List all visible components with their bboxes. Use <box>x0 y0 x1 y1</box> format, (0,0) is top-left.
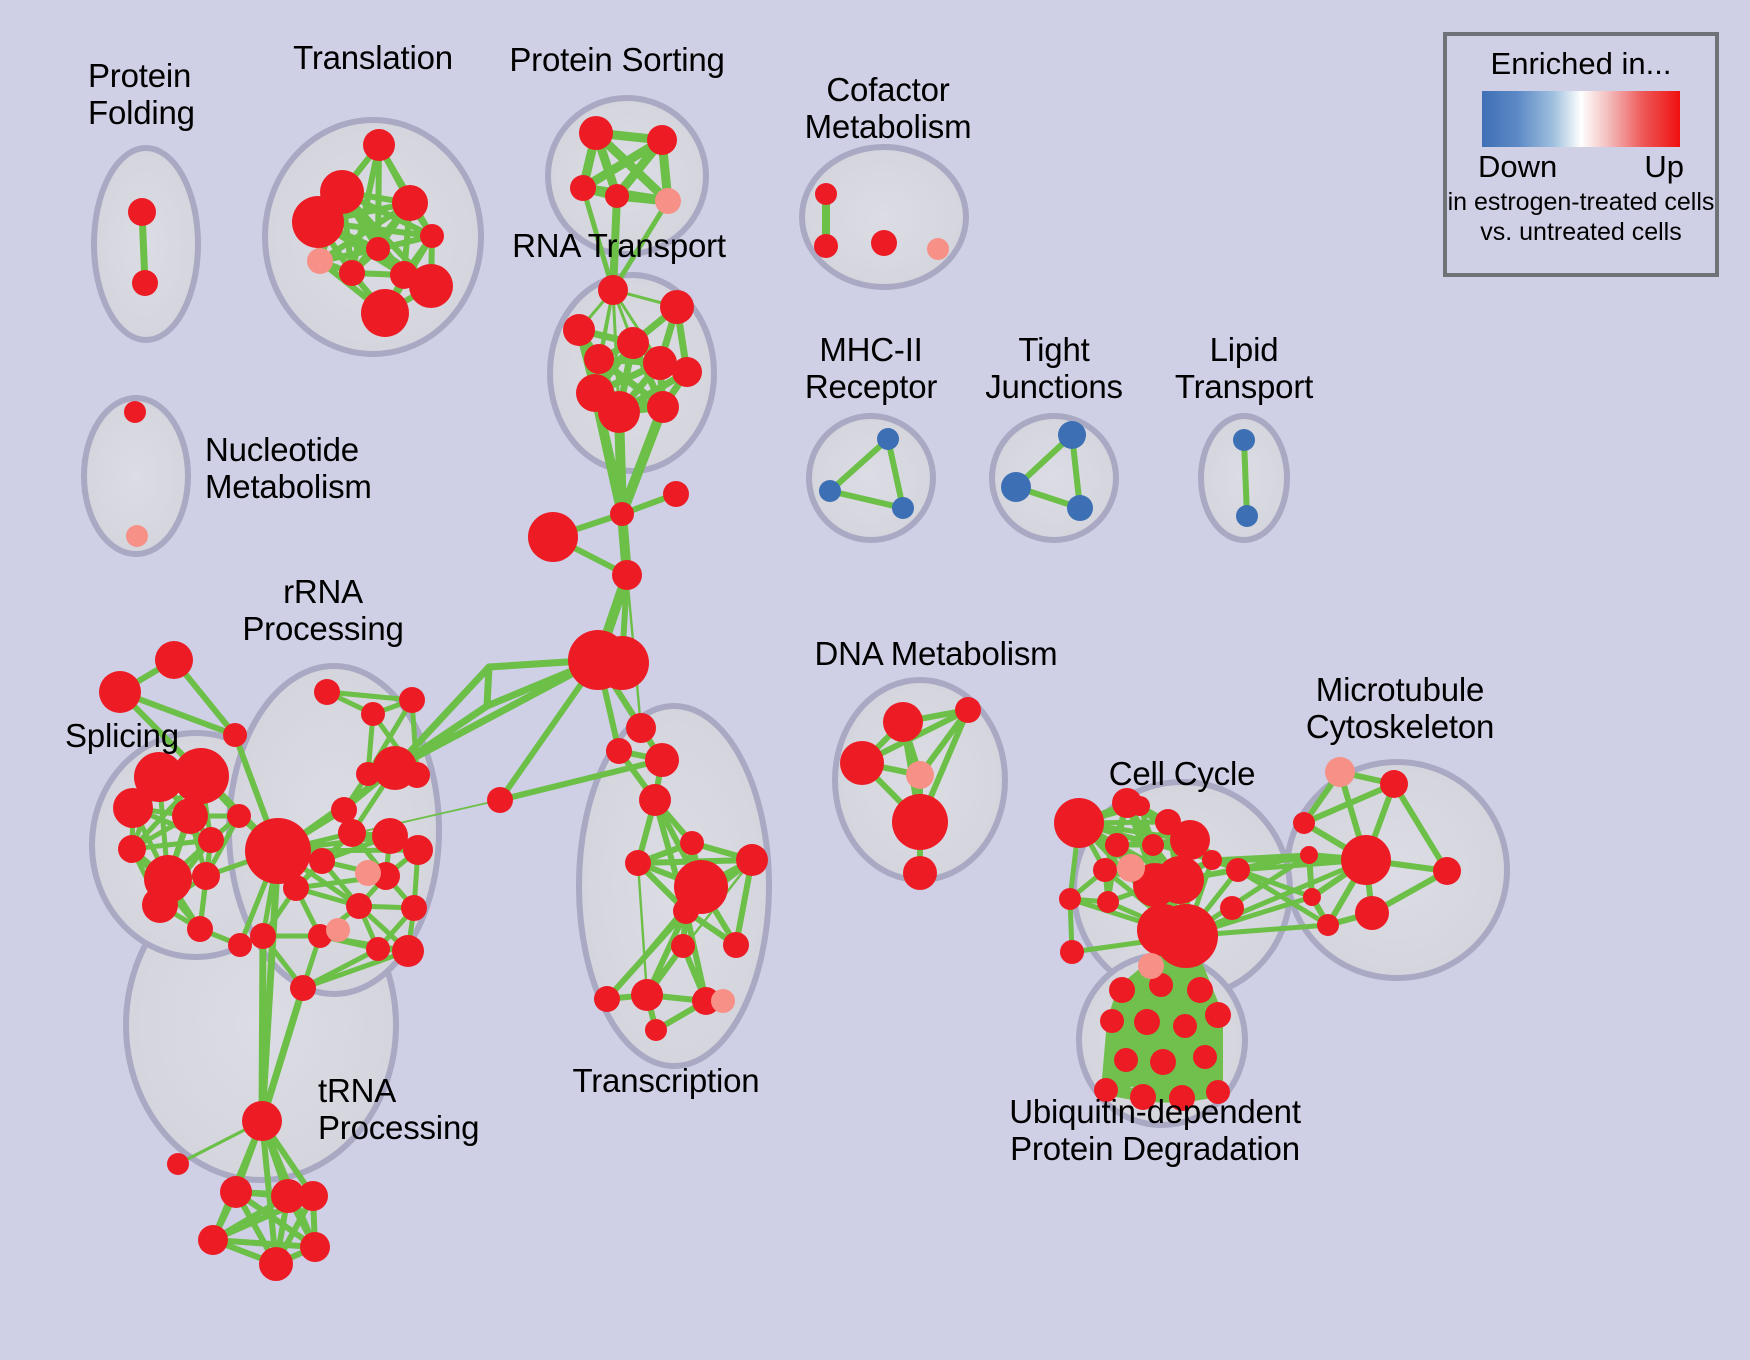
node <box>1300 846 1318 864</box>
node <box>187 916 213 942</box>
node <box>487 787 513 813</box>
node <box>672 357 702 387</box>
cluster-label-microtubule-cytoskeleton: Microtubule Cytoskeleton <box>1306 672 1494 746</box>
node <box>671 934 695 958</box>
node <box>645 743 679 777</box>
node <box>409 264 453 308</box>
enrichment-map-figure: Protein Folding Translation Protein Sort… <box>0 0 1750 1360</box>
node <box>167 1153 189 1175</box>
node <box>643 346 677 380</box>
node <box>639 784 671 816</box>
node <box>1117 854 1145 882</box>
node <box>403 835 433 865</box>
node <box>647 391 679 423</box>
legend-endpoints: Down Up <box>1482 149 1680 185</box>
node <box>142 887 178 923</box>
node <box>420 224 444 248</box>
node <box>245 818 311 884</box>
node <box>815 183 837 205</box>
node <box>307 248 333 274</box>
node <box>124 401 146 423</box>
node <box>927 238 949 260</box>
node <box>173 748 229 804</box>
node <box>631 979 663 1011</box>
node <box>612 560 642 590</box>
node <box>1054 798 1104 848</box>
node <box>355 860 381 886</box>
node <box>1150 1049 1176 1075</box>
node <box>1355 896 1389 930</box>
node <box>892 497 914 519</box>
node <box>259 1247 293 1281</box>
node <box>250 923 276 949</box>
node <box>1059 888 1081 910</box>
node <box>361 289 409 337</box>
cluster-label-rna-transport: RNA Transport <box>512 228 726 265</box>
cluster-label-ubiquitin-protein-degradation: Ubiquitin-dependent Protein Degradation <box>1009 1094 1301 1168</box>
node <box>595 636 649 690</box>
node <box>338 819 366 847</box>
node <box>606 738 632 764</box>
node <box>1138 953 1164 979</box>
legend-subtitle-line2: vs. untreated cells <box>1447 217 1715 247</box>
node <box>594 986 620 1012</box>
cluster-label-tight-junctions: Tight Junctions <box>985 332 1123 406</box>
node <box>840 741 884 785</box>
node <box>339 260 365 286</box>
node <box>1293 812 1315 834</box>
node <box>373 746 417 790</box>
node <box>598 391 640 433</box>
node <box>955 697 981 723</box>
node <box>906 761 934 789</box>
legend-up-label: Up <box>1644 149 1684 185</box>
node <box>242 1101 282 1141</box>
node <box>1060 940 1084 964</box>
node <box>680 831 704 855</box>
node <box>198 827 224 853</box>
node <box>647 125 677 155</box>
legend-down-label: Down <box>1478 149 1557 185</box>
node <box>155 641 193 679</box>
node <box>1134 1009 1160 1035</box>
node <box>1202 850 1222 870</box>
node <box>292 196 344 248</box>
node <box>819 480 841 502</box>
cluster-label-protein-folding: Protein Folding <box>88 58 195 132</box>
node <box>1205 1002 1231 1028</box>
node <box>309 848 335 874</box>
node <box>1105 833 1129 857</box>
node <box>220 1176 252 1208</box>
cluster-label-cell-cycle: Cell Cycle <box>1109 756 1256 793</box>
node <box>883 702 923 742</box>
cluster-label-protein-sorting: Protein Sorting <box>509 42 724 79</box>
node <box>314 679 340 705</box>
node <box>1109 977 1135 1003</box>
node <box>617 327 649 359</box>
cluster-label-mhc-ii-receptor: MHC-II Receptor <box>805 332 937 406</box>
node <box>563 314 595 346</box>
node <box>298 1181 328 1211</box>
node <box>1156 856 1204 904</box>
cluster-label-translation: Translation <box>293 40 453 77</box>
node <box>1114 1048 1138 1072</box>
node <box>300 1232 330 1262</box>
node <box>598 275 628 305</box>
node <box>399 687 425 713</box>
cluster-label-transcription: Transcription <box>573 1063 760 1100</box>
node <box>723 932 749 958</box>
node <box>392 935 424 967</box>
node <box>1220 896 1244 920</box>
node <box>814 234 838 258</box>
node <box>1137 904 1189 956</box>
halo-mhc-ii-receptor <box>809 416 933 540</box>
node <box>132 270 158 296</box>
node <box>366 937 390 961</box>
node <box>290 975 316 1001</box>
node <box>877 428 899 450</box>
node <box>1001 472 1031 502</box>
node <box>172 798 208 834</box>
color-gradient-bar <box>1482 91 1680 147</box>
node <box>223 723 247 747</box>
node <box>228 933 252 957</box>
node <box>584 344 614 374</box>
node <box>1317 914 1339 936</box>
node <box>1058 421 1086 449</box>
cluster-label-nucleotide-metabolism: Nucleotide Metabolism <box>205 432 372 506</box>
node <box>645 1019 667 1041</box>
node <box>346 893 372 919</box>
node <box>1380 770 1408 798</box>
node <box>1097 891 1119 913</box>
node <box>99 671 141 713</box>
node <box>1093 858 1117 882</box>
node <box>655 188 681 214</box>
node <box>1193 1045 1217 1069</box>
node <box>118 835 146 863</box>
node <box>1433 857 1461 885</box>
node <box>1142 834 1164 856</box>
node <box>401 895 427 921</box>
node <box>227 804 251 828</box>
node <box>610 502 634 526</box>
node <box>660 290 694 324</box>
node <box>1341 835 1391 885</box>
node <box>673 898 699 924</box>
node <box>1100 1009 1124 1033</box>
node <box>1236 505 1258 527</box>
node <box>736 844 768 876</box>
legend-subtitle: in estrogen-treated cells vs. untreated … <box>1447 187 1715 247</box>
node <box>892 794 948 850</box>
node <box>903 856 937 890</box>
node <box>711 989 735 1013</box>
node <box>1325 757 1355 787</box>
cluster-label-dna-metabolism: DNA Metabolism <box>815 636 1058 673</box>
node <box>1067 495 1093 521</box>
legend-box: Enriched in... Down Up in estrogen-treat… <box>1443 32 1719 277</box>
node <box>1226 858 1250 882</box>
legend-subtitle-line1: in estrogen-treated cells <box>1447 187 1715 217</box>
node <box>528 512 578 562</box>
node <box>625 850 651 876</box>
node <box>126 525 148 547</box>
node <box>1173 1014 1197 1038</box>
node <box>113 788 153 828</box>
node <box>372 818 408 854</box>
node <box>366 237 390 261</box>
node <box>192 862 220 890</box>
cluster-label-lipid-transport: Lipid Transport <box>1175 332 1313 406</box>
node <box>871 230 897 256</box>
node <box>626 713 656 743</box>
node <box>392 185 428 221</box>
cluster-label-splicing: Splicing <box>65 718 179 755</box>
node <box>363 129 395 161</box>
node <box>1130 796 1150 816</box>
legend-title: Enriched in... <box>1447 46 1715 82</box>
node <box>326 918 350 942</box>
node <box>198 1225 228 1255</box>
node <box>1303 888 1321 906</box>
node <box>570 175 596 201</box>
node <box>361 702 385 726</box>
node <box>605 184 629 208</box>
cluster-label-trna-processing: tRNA Processing <box>318 1073 479 1147</box>
node <box>1233 429 1255 451</box>
node <box>579 116 613 150</box>
node <box>663 481 689 507</box>
cluster-label-rrna-processing: rRNA Processing <box>242 574 403 648</box>
node <box>1187 977 1213 1003</box>
node <box>128 198 156 226</box>
cluster-label-cofactor-metabolism: Cofactor Metabolism <box>805 72 972 146</box>
